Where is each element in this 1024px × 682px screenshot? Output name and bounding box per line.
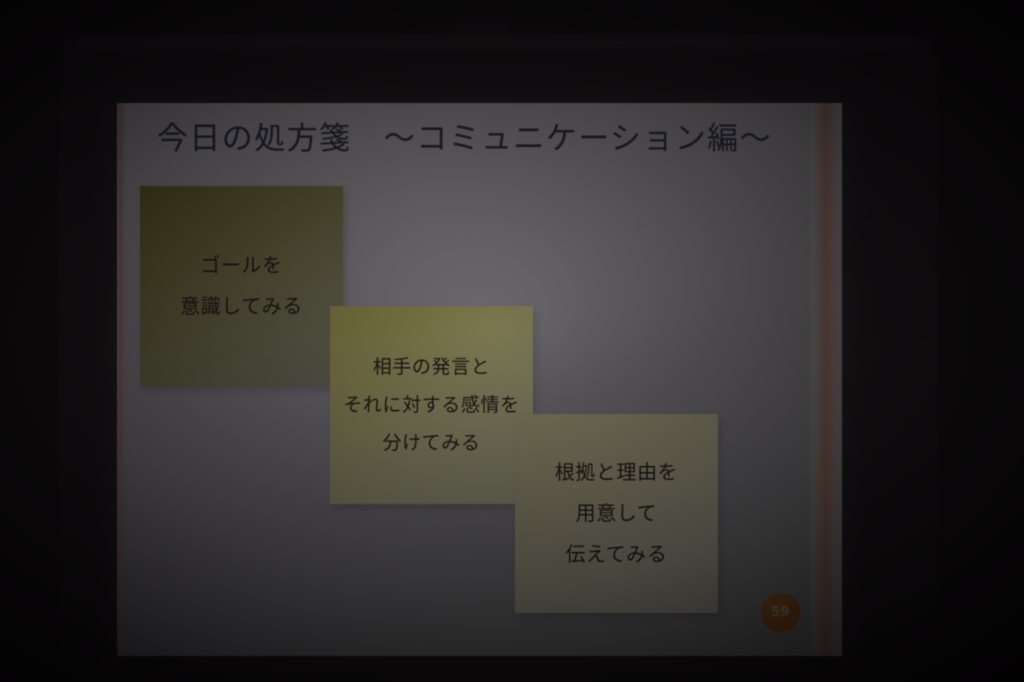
slide-canvas: 今日の処方箋 ～コミュニケーション編～ ゴールを 意識してみる 相手の発言と そ… bbox=[117, 103, 842, 656]
sticky-note-line: 用意して bbox=[576, 493, 658, 534]
sticky-note-line: ゴールを bbox=[200, 245, 282, 286]
roller-endcap-right bbox=[918, 38, 932, 52]
sticky-note-line: 分けてみる bbox=[382, 424, 480, 462]
roller-endcap-left bbox=[64, 38, 78, 52]
projected-slide-photo: 今日の処方箋 ～コミュニケーション編～ ゴールを 意識してみる 相手の発言と そ… bbox=[0, 0, 1024, 682]
sticky-note-line: 根拠と理由を bbox=[555, 452, 679, 493]
slide-left-accent-stripe bbox=[117, 103, 126, 656]
slide-number-badge: 59 bbox=[761, 593, 800, 632]
sticky-note-line: それに対する感情を bbox=[343, 386, 519, 424]
sticky-note-line: 伝えてみる bbox=[566, 534, 668, 575]
screen-roller-bar bbox=[64, 34, 932, 56]
sticky-note-separate-feelings: 相手の発言と それに対する感情を 分けてみる bbox=[330, 306, 533, 504]
sticky-note-reasons: 根拠と理由を 用意して 伝えてみる bbox=[515, 414, 718, 613]
slide-right-accent-stripe bbox=[808, 103, 842, 656]
sticky-note-goal: ゴールを 意識してみる bbox=[140, 186, 343, 386]
projection-screen: 今日の処方箋 ～コミュニケーション編～ ゴールを 意識してみる 相手の発言と そ… bbox=[58, 34, 938, 652]
sticky-note-line: 意識してみる bbox=[180, 286, 303, 327]
slide-title: 今日の処方箋 ～コミュニケーション編～ bbox=[157, 121, 817, 159]
sticky-note-line: 相手の発言と bbox=[373, 348, 491, 386]
screen-fabric-border: 今日の処方箋 ～コミュニケーション編～ ゴールを 意識してみる 相手の発言と そ… bbox=[58, 54, 938, 650]
